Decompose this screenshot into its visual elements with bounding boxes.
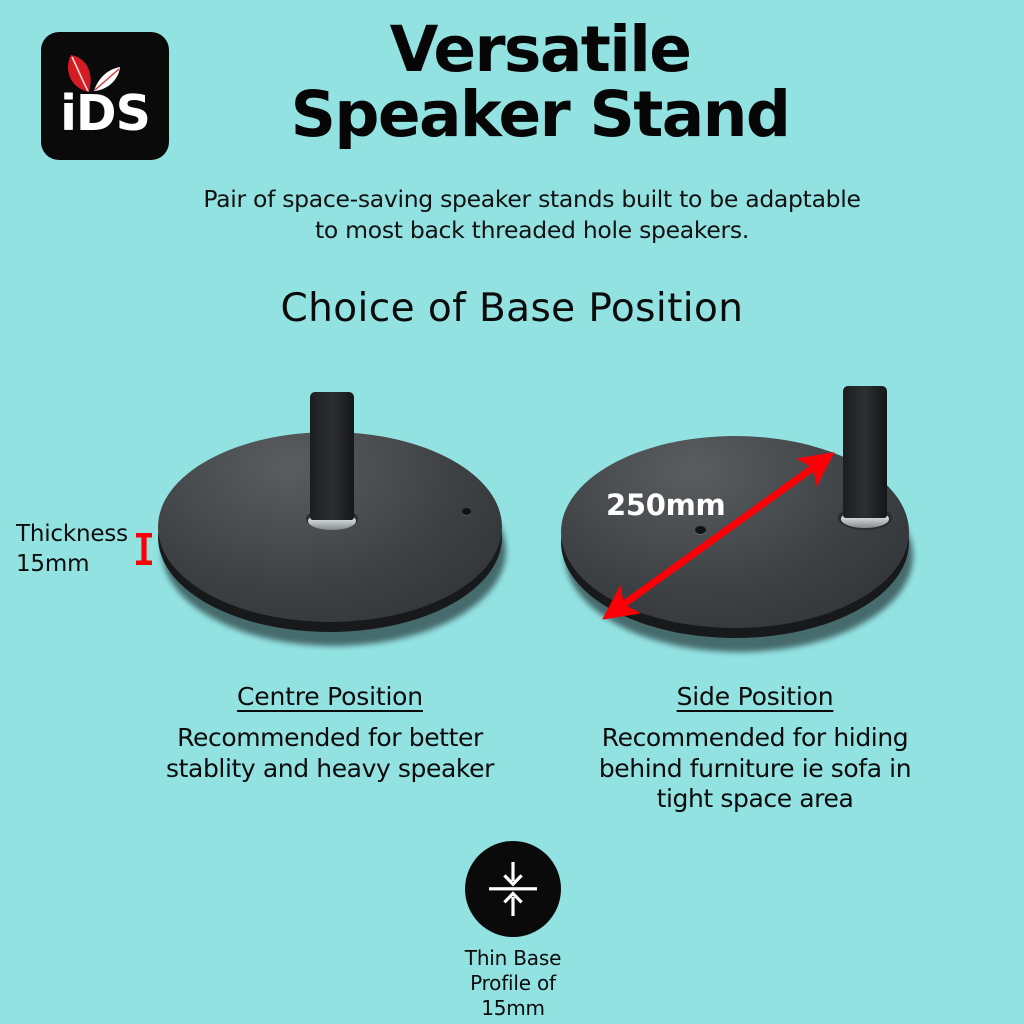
caption-title-side: Side Position — [677, 682, 834, 711]
badge-caption-line-1: Thin Base — [413, 946, 613, 971]
logo-inner: iDS — [41, 32, 169, 160]
product-photo-side-position — [555, 378, 945, 668]
caption-body-side-line-1: Recommended for hiding — [565, 723, 945, 754]
product-photo-centre-position — [140, 380, 520, 670]
page-subtitle-line-2: to most back threaded hole speakers. — [132, 215, 932, 246]
thin-profile-compress-icon — [465, 841, 561, 937]
logo-wordmark: iDS — [41, 89, 169, 138]
section-heading: Choice of Base Position — [112, 286, 912, 331]
base-hole-icon — [695, 526, 706, 534]
support-pole — [310, 392, 354, 520]
caption-body-centre-line-2: stablity and heavy speaker — [145, 754, 515, 785]
badge-caption-line-3: 15mm — [413, 996, 613, 1021]
page-subtitle: Pair of space-saving speaker stands buil… — [132, 184, 932, 246]
brand-logo: iDS — [41, 32, 169, 160]
infographic-page: iDS Versatile Speaker Stand Pair of spac… — [0, 0, 1024, 1024]
thickness-label-line-1: Thickness — [16, 519, 128, 549]
caption-body-side-line-2: behind furniture ie sofa in — [565, 754, 945, 785]
caption-body-side-line-3: tight space area — [565, 784, 945, 815]
page-title-line-2: Speaker Stand — [190, 83, 890, 148]
support-pole — [843, 386, 887, 518]
badge-caption-line-2: Profile of — [413, 971, 613, 996]
page-title-line-1: Versatile — [190, 18, 890, 83]
i-beam-dimension-icon — [134, 533, 154, 565]
caption-centre-position: Centre Position Recommended for better s… — [145, 682, 515, 784]
thickness-annotation-label: Thickness 15mm — [16, 519, 128, 580]
thin-profile-badge-caption: Thin Base Profile of 15mm — [413, 946, 613, 1021]
caption-title-centre: Centre Position — [237, 682, 423, 711]
diameter-dimension-label: 250mm — [606, 488, 725, 522]
thin-profile-badge — [465, 841, 561, 937]
caption-body-centre: Recommended for better stablity and heav… — [145, 723, 515, 784]
caption-body-centre-line-1: Recommended for better — [145, 723, 515, 754]
page-title: Versatile Speaker Stand — [190, 18, 890, 148]
page-subtitle-line-1: Pair of space-saving speaker stands buil… — [132, 184, 932, 215]
caption-side-position: Side Position Recommended for hiding beh… — [565, 682, 945, 815]
thickness-label-line-2: 15mm — [16, 549, 128, 579]
base-hole-icon — [462, 508, 471, 515]
caption-body-side: Recommended for hiding behind furniture … — [565, 723, 945, 815]
